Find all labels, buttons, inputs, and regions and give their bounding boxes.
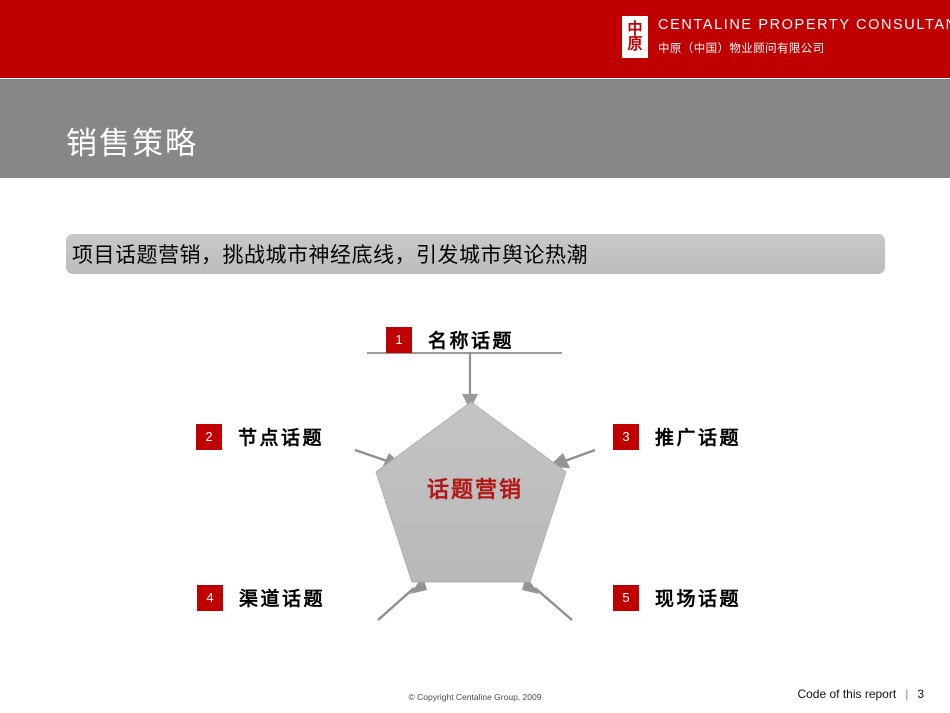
- diagram-node-3[interactable]: 3 推广话题: [613, 423, 741, 450]
- node-number-badge-4: 4: [197, 585, 223, 611]
- node-number-badge-1: 1: [386, 327, 412, 353]
- footer-page-number: 3: [917, 687, 924, 701]
- connector-line-2b: [355, 450, 390, 462]
- node-label-text-1: 名称话题: [428, 326, 514, 353]
- node-label-text-5: 现场话题: [655, 584, 741, 611]
- page-title: 销售策略: [66, 118, 198, 163]
- footer-page-info: Code of this report | 3: [797, 687, 924, 701]
- brand-name-english: CENTALINE PROPERTY CONSULTANTS: [658, 17, 950, 33]
- brand-text: CENTALINE PROPERTY CONSULTANTS 中原（中国）物业顾…: [658, 16, 950, 56]
- brand-lockup: 中 原 CENTALINE PROPERTY CONSULTANTS 中原（中国…: [622, 16, 950, 58]
- connector-line-5b: [535, 588, 572, 620]
- diagram-node-4[interactable]: 4 渠道话题: [197, 584, 325, 611]
- node-number-badge-2: 2: [196, 424, 222, 450]
- logo-char-bottom: 原: [627, 37, 642, 53]
- subtitle-text: 项目话题营销，挑战城市神经底线，引发城市舆论热潮: [72, 239, 588, 269]
- footer-separator: |: [905, 687, 908, 701]
- brand-name-chinese: 中原（中国）物业顾问有限公司: [658, 40, 950, 56]
- connector-line-4b: [378, 588, 414, 620]
- connector-line-3b: [562, 450, 595, 462]
- pentagon-shape: [376, 402, 566, 582]
- node-label-text-3: 推广话题: [655, 423, 741, 450]
- node-label-text-4: 渠道话题: [239, 584, 325, 611]
- node-number-badge-3: 3: [613, 424, 639, 450]
- diagram-node-1[interactable]: 1 名称话题: [386, 326, 514, 353]
- diagram-node-2[interactable]: 2 节点话题: [196, 423, 324, 450]
- node-number-badge-5: 5: [613, 585, 639, 611]
- centaline-logo-icon: 中 原: [622, 16, 648, 58]
- diagram-node-5[interactable]: 5 现场话题: [613, 584, 741, 611]
- footer-code-label: Code of this report: [797, 687, 896, 701]
- node-label-text-2: 节点话题: [238, 423, 324, 450]
